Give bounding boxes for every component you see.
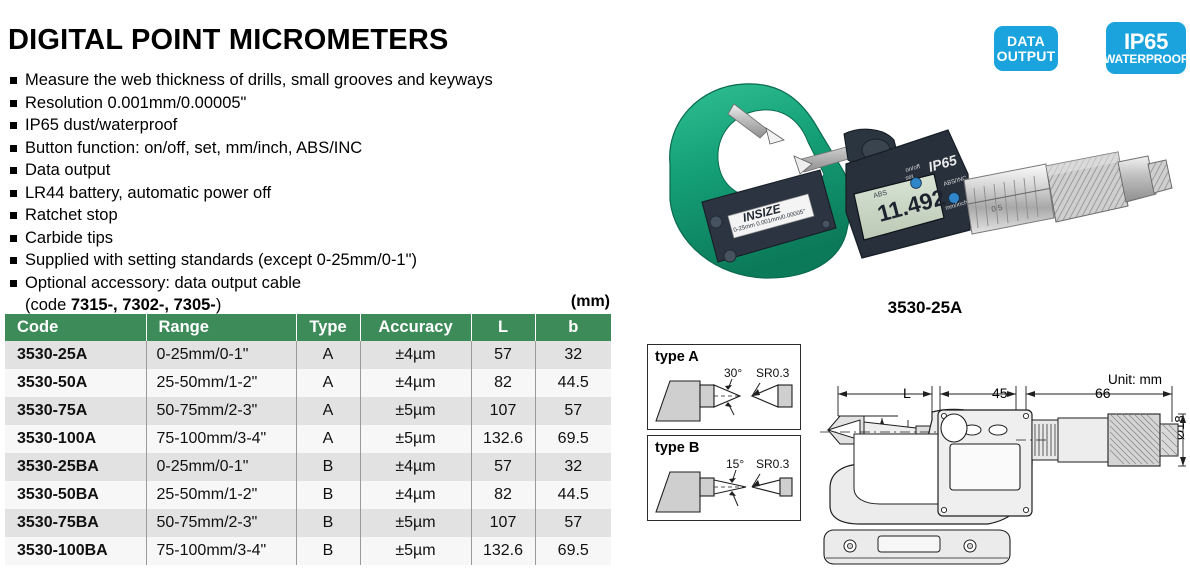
cell-type: A [296, 369, 360, 397]
cell-b: 69.5 [535, 537, 611, 565]
table-row[interactable]: 3530-75A 50-75mm/2-3" A ±5µm 107 57 [5, 397, 611, 425]
cell-accuracy: ±4µm [360, 453, 471, 481]
cell-range: 25-50mm/1-2" [146, 481, 296, 509]
table-row[interactable]: 3530-50A 25-50mm/1-2" A ±4µm 82 44.5 [5, 369, 611, 397]
bullet-square-icon [10, 190, 17, 197]
bullet-square-icon [10, 212, 17, 219]
cell-type: A [296, 341, 360, 369]
cell-l: 57 [471, 341, 535, 369]
cell-code: 3530-100BA [5, 537, 146, 565]
cell-accuracy: ±5µm [360, 425, 471, 453]
table-row[interactable]: 3530-25A 0-25mm/0-1" A ±4µm 57 32 [5, 341, 611, 369]
cell-range: 0-25mm/0-1" [146, 341, 296, 369]
list-item: Supplied with setting standards (except … [10, 250, 620, 272]
list-item: Optional accessory: data output cable [10, 273, 620, 295]
list-item: Ratchet stop [10, 205, 620, 227]
table-row[interactable]: 3530-100A 75-100mm/3-4" A ±5µm 132.6 69.… [5, 425, 611, 453]
cell-accuracy: ±4µm [360, 481, 471, 509]
bullet-square-icon [10, 257, 17, 264]
cell-code: 3530-50BA [5, 481, 146, 509]
cell-accuracy: ±5µm [360, 397, 471, 425]
catalog-page: DIGITAL POINT MICROMETERS Measure the we… [0, 0, 1190, 572]
cell-b: 57 [535, 397, 611, 425]
cell-b: 44.5 [535, 369, 611, 397]
cell-b: 69.5 [535, 425, 611, 453]
table-row[interactable]: 3530-75BA 50-75mm/2-3" B ±5µm 107 57 [5, 509, 611, 537]
list-item: Resolution 0.001mm/0.00005" [10, 93, 620, 115]
column-header-l: L [471, 314, 535, 341]
cell-code: 3530-100A [5, 425, 146, 453]
cell-accuracy: ±4µm [360, 341, 471, 369]
cell-code: 3530-75BA [5, 509, 146, 537]
bullet-square-icon [10, 77, 17, 84]
column-header-b: b [535, 314, 611, 341]
cell-range: 75-100mm/3-4" [146, 425, 296, 453]
cell-range: 50-75mm/2-3" [146, 509, 296, 537]
cell-l: 107 [471, 509, 535, 537]
cell-b: 44.5 [535, 481, 611, 509]
bullet-square-icon [10, 235, 17, 242]
bullet-square-icon [10, 100, 17, 107]
cell-range: 0-25mm/0-1" [146, 453, 296, 481]
cell-l: 82 [471, 369, 535, 397]
table-row[interactable]: 3530-25BA 0-25mm/0-1" B ±4µm 57 32 [5, 453, 611, 481]
cell-type: B [296, 481, 360, 509]
list-item: Data output [10, 160, 620, 182]
cell-type: A [296, 397, 360, 425]
cell-range: 75-100mm/3-4" [146, 537, 296, 565]
cell-code: 3530-50A [5, 369, 146, 397]
page-title: DIGITAL POINT MICROMETERS [8, 24, 449, 57]
cell-range: 50-75mm/2-3" [146, 397, 296, 425]
cell-type: B [296, 509, 360, 537]
tip-diagram-type-a: type A 30° SR0.3 [647, 344, 801, 430]
cell-b: 32 [535, 341, 611, 369]
badge-line-1: IP65 [1124, 31, 1168, 53]
cell-l: 132.6 [471, 425, 535, 453]
tip-diagram-type-b: type B 15° SR0.3 [647, 435, 801, 521]
cell-l: 82 [471, 481, 535, 509]
cell-type: B [296, 453, 360, 481]
svg-text:15°: 15° [726, 457, 744, 471]
bullet-square-icon [10, 122, 17, 129]
bullet-square-icon [10, 280, 17, 287]
product-photo: IP65 11.492 ABS on/off set ABS/INC mm/in… [648, 52, 1188, 292]
column-header-code: Code [5, 314, 146, 341]
list-item: Carbide tips [10, 228, 620, 250]
cell-l: 107 [471, 397, 535, 425]
column-header-range: Range [146, 314, 296, 341]
list-item: Button function: on/off, set, mm/inch, A… [10, 138, 620, 160]
bullet-square-icon [10, 167, 17, 174]
list-item: Measure the web thickness of drills, sma… [10, 70, 620, 92]
svg-text:30°: 30° [724, 366, 742, 380]
cell-code: 3530-75A [5, 397, 146, 425]
cell-l: 57 [471, 453, 535, 481]
table-header-row: Code Range Type Accuracy L b [5, 314, 611, 341]
cell-type: B [296, 537, 360, 565]
cell-b: 57 [535, 509, 611, 537]
specification-table: Code Range Type Accuracy L b 3530-25A 0-… [5, 314, 611, 565]
feature-list: Measure the web thickness of drills, sma… [10, 70, 620, 317]
bullet-square-icon [10, 145, 17, 152]
technical-drawing [820, 368, 1188, 568]
column-header-type: Type [296, 314, 360, 341]
cell-l: 132.6 [471, 537, 535, 565]
svg-text:SR0.3: SR0.3 [756, 366, 790, 380]
drawing-lcd [950, 444, 1020, 490]
cell-accuracy: ±5µm [360, 509, 471, 537]
table-row[interactable]: 3530-50BA 25-50mm/1-2" B ±4µm 82 44.5 [5, 481, 611, 509]
cell-code: 3530-25BA [5, 453, 146, 481]
table-row[interactable]: 3530-100BA 75-100mm/3-4" B ±5µm 132.6 69… [5, 537, 611, 565]
column-header-accuracy: Accuracy [360, 314, 471, 341]
list-item: IP65 dust/waterproof [10, 115, 620, 137]
cell-b: 32 [535, 453, 611, 481]
cell-type: A [296, 425, 360, 453]
svg-text:SR0.3: SR0.3 [756, 457, 790, 471]
cell-range: 25-50mm/1-2" [146, 369, 296, 397]
table-unit-note: (mm) [0, 293, 610, 311]
cell-code: 3530-25A [5, 341, 146, 369]
cell-accuracy: ±5µm [360, 537, 471, 565]
cell-accuracy: ±4µm [360, 369, 471, 397]
badge-line-1: DATA [1007, 34, 1045, 48]
product-caption: 3530-25A [800, 298, 1050, 318]
list-item: LR44 battery, automatic power off [10, 183, 620, 205]
